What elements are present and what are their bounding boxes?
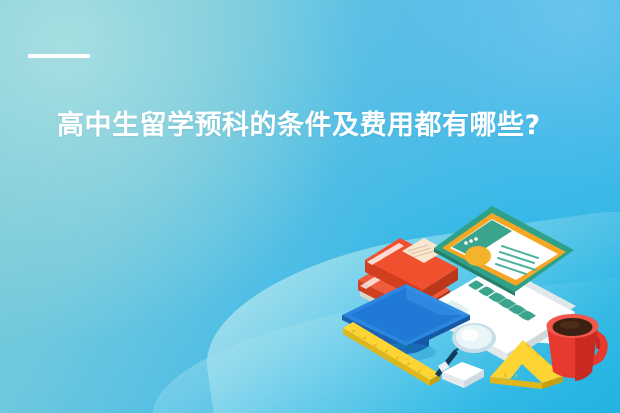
page-title: 高中生留学预科的条件及费用都有哪些? [57,100,577,152]
desk-surface-shadow [144,273,620,413]
coffee-mug-icon [547,314,604,381]
graduation-cap-icon [342,284,470,361]
background-glow-left [0,0,360,340]
laptop-keys [468,280,536,321]
ruler-icon [343,322,440,386]
desk-surface [193,204,620,413]
eraser-icon [442,362,484,388]
accent-rule [28,54,90,58]
book-stack-icon [358,238,458,324]
notebook-icon [455,310,572,344]
laptop-icon [424,206,576,362]
promo-banner: 高中生留学预科的条件及费用都有哪些? [0,0,620,413]
magnifying-glass-icon [435,323,496,377]
study-desk-illustration [0,0,620,413]
triangle-ruler-icon [490,340,563,389]
